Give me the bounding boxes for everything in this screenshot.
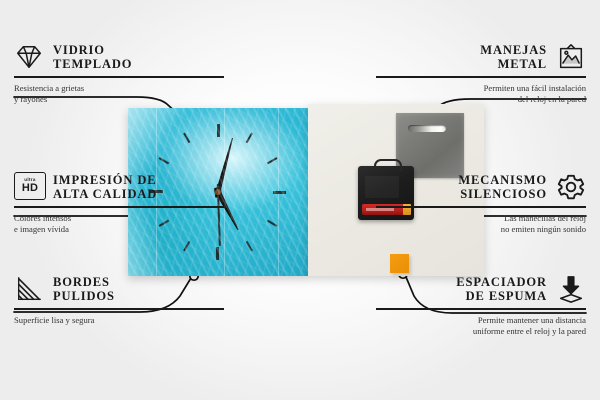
feature-title: Bordes Pulidos [53,275,115,304]
glass-highlight [224,108,225,276]
feature-description: Superficie lisa y segura [14,315,224,326]
ultra-hd-icon: ultraHD [14,172,44,202]
orange-foam-spacer [390,254,409,273]
feature-rule [14,308,224,310]
feature-title: Espaciador de Espuma [456,275,547,304]
feature-description: Colores intensos e imagen vívida [14,213,224,236]
feature-heading: Bordes Pulidos [14,274,224,304]
feature-manejas-metal: Manejas Metal Permiten una fácil instala… [376,42,586,105]
feature-rule [14,76,224,78]
feature-title: Mecanismo Silencioso [458,173,547,202]
feature-title: Impresión de Alta Calidad [53,173,157,202]
feature-impresion-alta-calidad: ultraHD Impresión de Alta Calidad Colore… [14,172,224,235]
foam-spacer-arrow-icon [556,274,586,304]
feature-rule [14,206,224,208]
feature-rule [376,206,586,208]
feature-heading: Espaciador de Espuma [376,274,586,304]
feature-description: Las manecillas del reloj no emiten ningú… [376,213,586,236]
infographic-canvas: Vidrio Templado Resistencia a grietas y … [0,0,600,400]
feature-vidrio-templado: Vidrio Templado Resistencia a grietas y … [14,42,224,105]
feature-description: Resistencia a grietas y rayones [14,83,224,106]
feature-description: Permiten una fácil instalación del reloj… [376,83,586,106]
feature-title: Vidrio Templado [53,43,132,72]
gear-icon [556,172,586,202]
feature-heading: Vidrio Templado [14,42,224,72]
movement-hanging-loop [374,159,402,171]
hanger-keyhole-slot [408,125,446,132]
feature-bordes-pulidos: Bordes Pulidos Superficie lisa y segura [14,274,224,326]
polished-edges-icon [14,274,44,304]
feature-rule [376,76,586,78]
feature-heading: Mecanismo Silencioso [376,172,586,202]
feature-espaciador-espuma: Espaciador de Espuma Permite mantener un… [376,274,586,337]
feature-title: Manejas Metal [480,43,547,72]
picture-frame-hanger-icon [556,42,586,72]
feature-rule [376,308,586,310]
diamond-icon [14,42,44,72]
feature-description: Permite mantener una distancia uniforme … [376,315,586,338]
feature-heading: Manejas Metal [376,42,586,72]
feature-heading: ultraHD Impresión de Alta Calidad [14,172,224,202]
feature-mecanismo-silencioso: Mecanismo Silencioso Las manecillas del … [376,172,586,235]
